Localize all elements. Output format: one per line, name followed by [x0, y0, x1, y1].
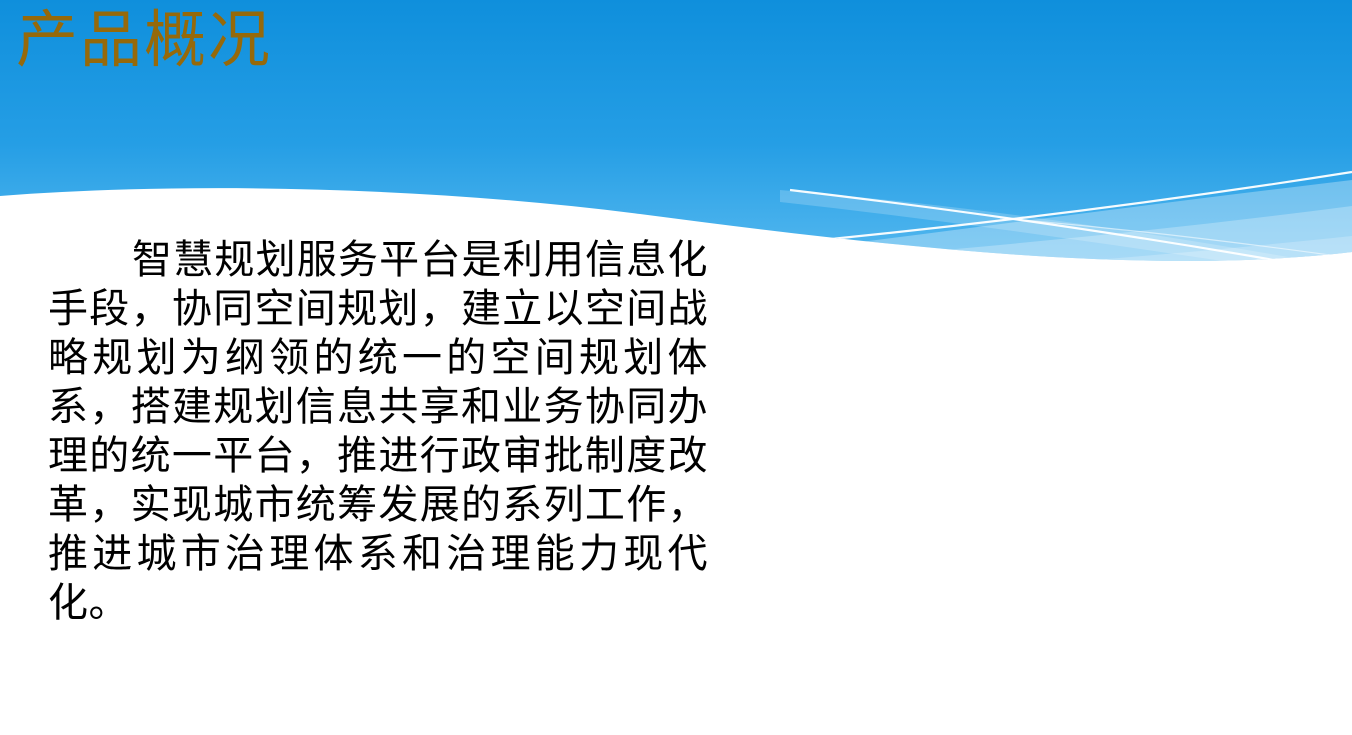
slide-canvas: 产品概况 智慧规划服务平台是利用信息化手段，协同空间规划，建立以空间战略规划为纲… — [0, 0, 1352, 735]
body-text-block: 智慧规划服务平台是利用信息化手段，协同空间规划，建立以空间战略规划为纲领的统一的… — [48, 236, 708, 628]
body-paragraph: 智慧规划服务平台是利用信息化手段，协同空间规划，建立以空间战略规划为纲领的统一的… — [48, 236, 708, 628]
page-title: 产品概况 — [16, 2, 272, 78]
